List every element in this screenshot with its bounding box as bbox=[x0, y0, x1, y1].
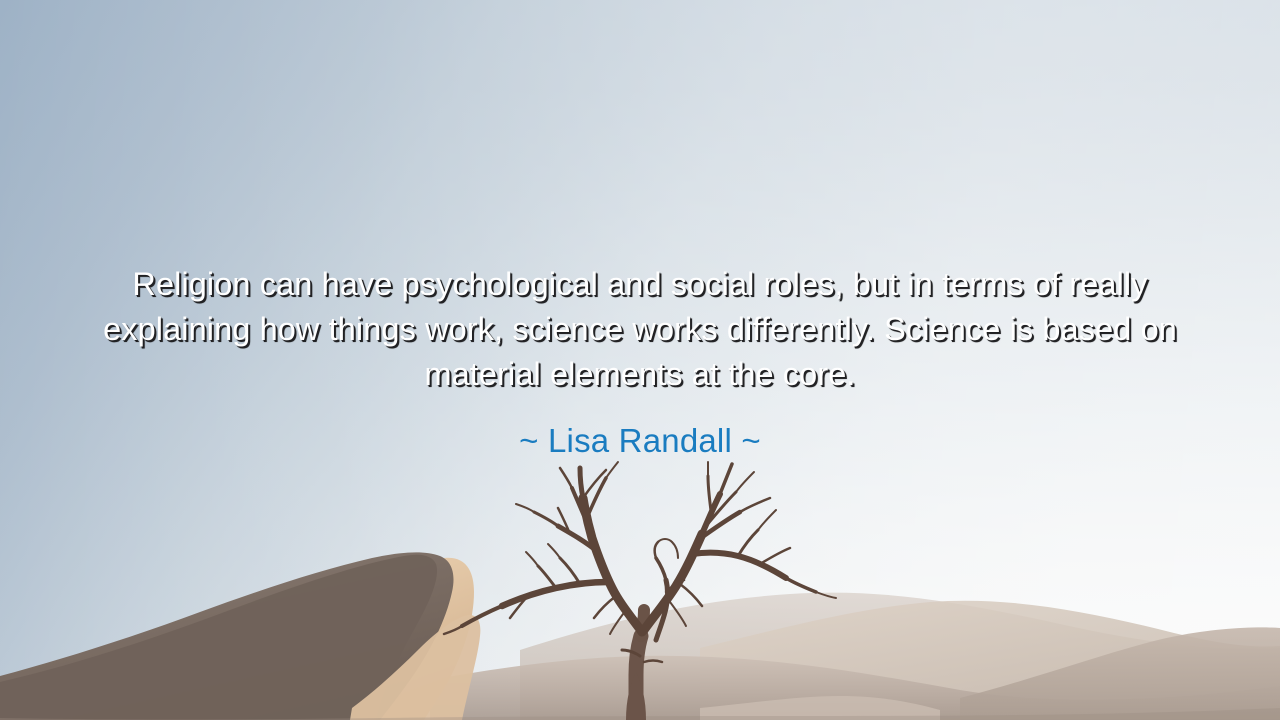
quote-text: Religion can have psychological and soci… bbox=[74, 262, 1206, 397]
quote-wallpaper: Religion can have psychological and soci… bbox=[0, 0, 1280, 720]
quote-block: Religion can have psychological and soci… bbox=[74, 262, 1206, 461]
quote-attribution: ~ Lisa Randall ~ bbox=[74, 397, 1206, 461]
dead-tree bbox=[440, 460, 840, 720]
